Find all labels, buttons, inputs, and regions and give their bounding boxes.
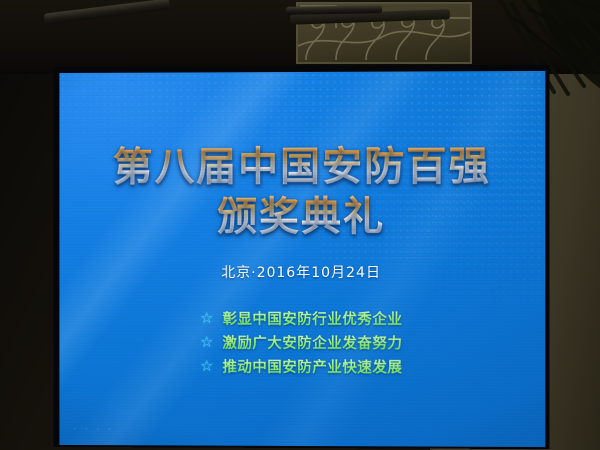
screen-vignette [59, 71, 545, 447]
upper-rail [286, 5, 382, 15]
led-screen-frame: 第八届中国安防百强 颁奖典礼 北京·2016年10月24日 ☆ 彰显中国安防行业… [53, 65, 549, 449]
photo-scene: 第八届中国安防百强 颁奖典礼 北京·2016年10月24日 ☆ 彰显中国安防行业… [0, 0, 600, 450]
led-screen: 第八届中国安防百强 颁奖典礼 北京·2016年10月24日 ☆ 彰显中国安防行业… [59, 71, 545, 447]
